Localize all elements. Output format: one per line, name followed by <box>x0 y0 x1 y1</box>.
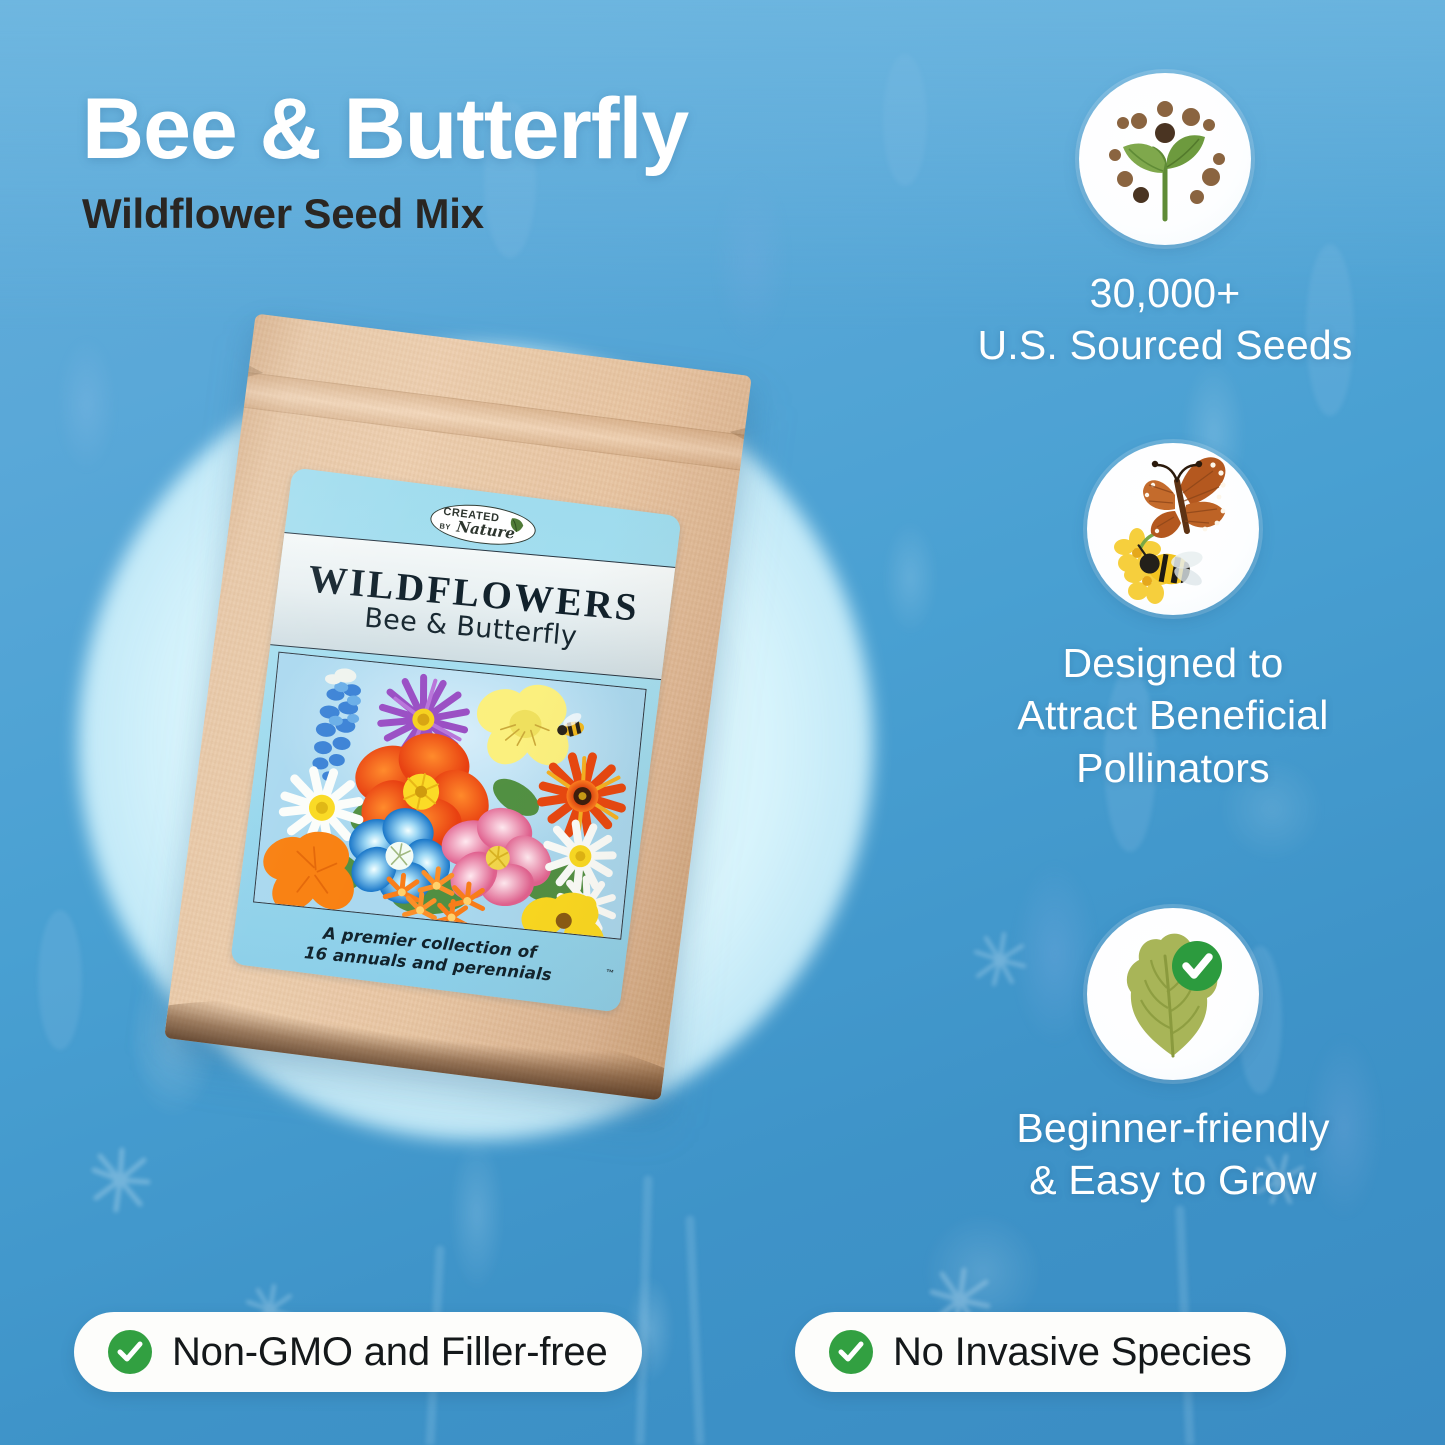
feature-line-1: Beginner-friendly <box>938 1102 1408 1154</box>
feature-easy-to-grow: Beginner-friendly & Easy to Grow <box>938 908 1408 1207</box>
leaf-check-icon <box>1087 908 1259 1080</box>
badge-label: Non-GMO and Filler-free <box>172 1330 608 1375</box>
packet-gloss-overlay <box>164 314 752 1101</box>
feature-icon-circle <box>1087 443 1259 615</box>
page-title: Bee & Butterfly <box>82 86 842 174</box>
product-marketing-image: Bee & Butterfly Wildflower Seed Mix CREA… <box>0 0 1445 1445</box>
butterfly-icon <box>1143 457 1226 538</box>
check-circle-icon <box>829 1330 873 1374</box>
feature-pollinators: Designed to Attract Beneficial Pollinato… <box>938 443 1408 794</box>
feature-line-2: Attract Beneficial <box>938 689 1408 741</box>
feature-icon-circle <box>1079 73 1251 245</box>
seed-packet: CREATED BY Nature WILDFLOWERS Bee & Butt… <box>164 314 752 1101</box>
product-image: CREATED BY Nature WILDFLOWERS Bee & Butt… <box>176 320 796 1120</box>
badge-no-invasive-species[interactable]: No Invasive Species <box>795 1312 1286 1392</box>
feature-line-2: & Easy to Grow <box>938 1154 1408 1206</box>
butterfly-bee-flowers-icon <box>1087 443 1259 615</box>
feature-icon-circle <box>1087 908 1259 1080</box>
feature-text: 30,000+ U.S. Sourced Seeds <box>930 267 1400 372</box>
feature-line-1: 30,000+ <box>930 267 1400 319</box>
feature-seeds: 30,000+ U.S. Sourced Seeds <box>930 73 1400 372</box>
feature-line-2: U.S. Sourced Seeds <box>930 319 1400 371</box>
feature-text: Designed to Attract Beneficial Pollinato… <box>938 637 1408 794</box>
seedling-seeds-icon <box>1079 73 1251 245</box>
badge-label: No Invasive Species <box>893 1330 1252 1375</box>
page-subtitle: Wildflower Seed Mix <box>82 190 842 238</box>
packet-kraft-body: CREATED BY Nature WILDFLOWERS Bee & Butt… <box>164 314 752 1101</box>
feature-line-3: Pollinators <box>938 742 1408 794</box>
check-circle-icon <box>108 1330 152 1374</box>
feature-text: Beginner-friendly & Easy to Grow <box>938 1102 1408 1207</box>
feature-line-1: Designed to <box>938 637 1408 689</box>
badge-non-gmo[interactable]: Non-GMO and Filler-free <box>74 1312 642 1392</box>
headline-block: Bee & Butterfly Wildflower Seed Mix <box>82 86 842 238</box>
